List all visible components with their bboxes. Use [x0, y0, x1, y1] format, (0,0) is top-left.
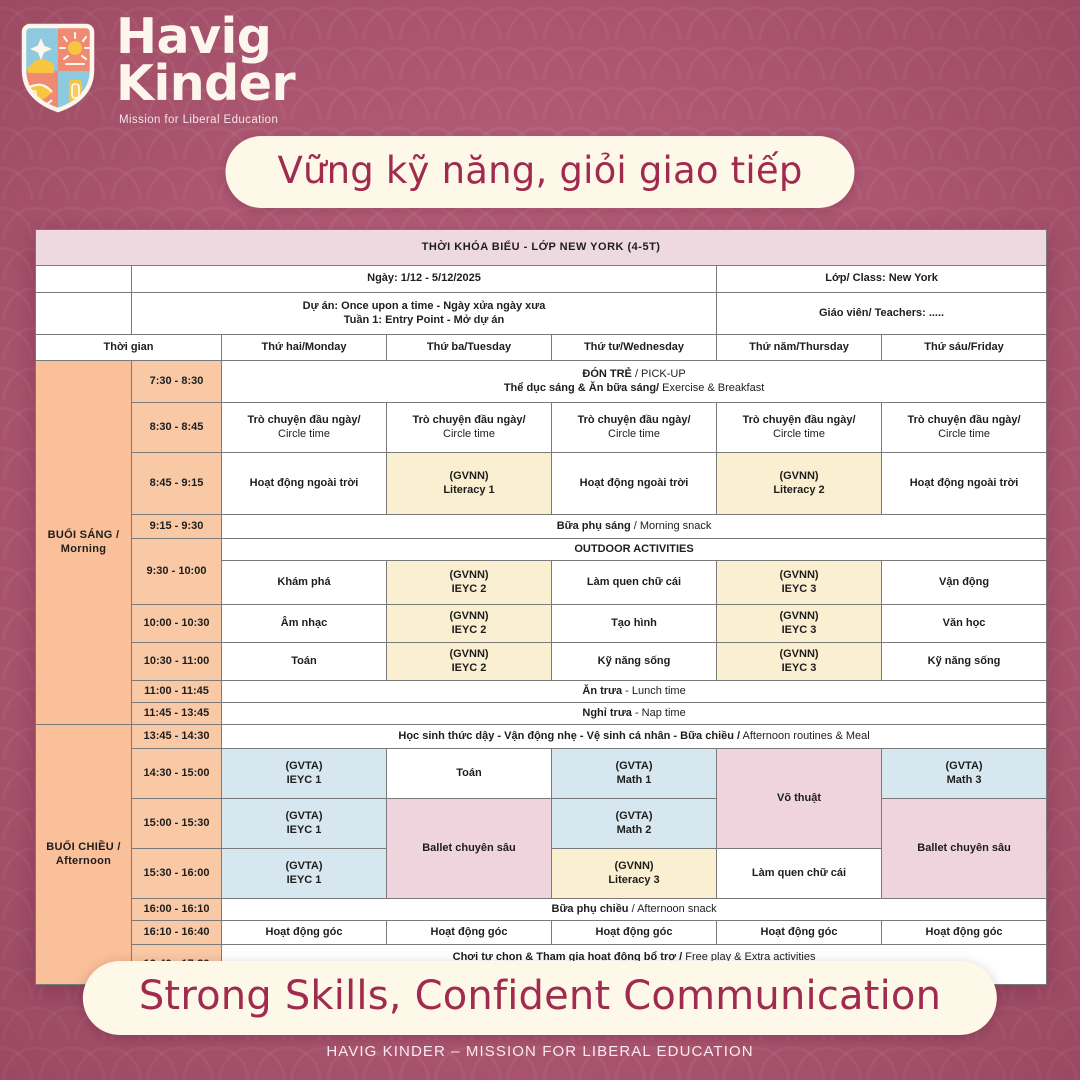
gvta-tag: (GVTA)	[555, 810, 713, 824]
cell-toan-mon: Toán	[222, 643, 387, 681]
table-row: 9:30 - 10:00 OUTDOOR ACTIVITIES	[36, 539, 1047, 561]
header-day-friday: Thứ sáu/Friday	[882, 335, 1047, 361]
pickup-reg: / PICK-UP	[632, 368, 686, 380]
math2-label: Math 2	[555, 824, 713, 838]
cell-amnhac-mon: Âm nhạc	[222, 605, 387, 643]
cell-ballet-fri: Ballet chuyên sâu	[882, 799, 1047, 899]
ieyc2-label: IEYC 2	[390, 662, 548, 676]
cell-vothuat-thu: Võ thuật	[717, 749, 882, 849]
gvta-tag: (GVTA)	[225, 810, 383, 824]
cell-vanhoc-fri: Văn học	[882, 605, 1047, 643]
cell-circle-wed: Trò chuyện đầu ngày/Circle time	[552, 403, 717, 453]
cell-hdgoc-mon: Hoạt động góc	[222, 921, 387, 945]
cell-circle-thu: Trò chuyện đầu ngày/Circle time	[717, 403, 882, 453]
table-row: 10:30 - 11:00 Toán (GVNN)IEYC 2 Kỹ năng …	[36, 643, 1047, 681]
gvnn-tag: (GVNN)	[720, 610, 878, 624]
cell-math2-wed: (GVTA)Math 2	[552, 799, 717, 849]
circle-bold: Trò chuyện đầu ngày/	[885, 414, 1043, 428]
table-row: BUỔI CHIỀU / Afternoon 13:45 - 14:30 Học…	[36, 725, 1047, 749]
cell-literacy3-wed: (GVNN)Literacy 3	[552, 849, 717, 899]
cell-ieyc2-tue: (GVNN)IEYC 2	[387, 561, 552, 605]
literacy2-label: Literacy 2	[720, 484, 878, 498]
header-day-tuesday: Thứ ba/Tuesday	[387, 335, 552, 361]
time-10-00: 10:00 - 10:30	[132, 605, 222, 643]
cell-circle-tue: Trò chuyện đầu ngày/Circle time	[387, 403, 552, 453]
slogan-bottom-text: Strong Skills, Confident Communication	[139, 973, 941, 1019]
cell-outdoor-wed: Hoạt động ngoài trời	[552, 453, 717, 515]
cell-ieyc3-thu: (GVNN)IEYC 3	[717, 561, 882, 605]
cell-ieyc2-tue-3: (GVNN)IEYC 2	[387, 643, 552, 681]
date-label: Ngày: 1/12 - 5/12/2025	[132, 266, 717, 293]
table-day-header-row: Thời gian Thứ hai/Monday Thứ ba/Tuesday …	[36, 335, 1047, 361]
time-8-45: 8:45 - 9:15	[132, 453, 222, 515]
cell-nap: Nghỉ trưa - Nap time	[222, 703, 1047, 725]
cell-math3-fri: (GVTA)Math 3	[882, 749, 1047, 799]
page-title: THỜI KHÓA BIỂU - LỚP NEW YORK (4-5T)	[36, 230, 1047, 266]
circle-bold: Trò chuyện đầu ngày/	[720, 414, 878, 428]
cell-kynangsong-fri: Kỹ năng sống	[882, 643, 1047, 681]
nap-bold: Nghỉ trưa	[582, 707, 632, 719]
header-day-wednesday: Thứ tư/Wednesday	[552, 335, 717, 361]
table-row: 11:45 - 13:45 Nghỉ trưa - Nap time	[36, 703, 1047, 725]
time-13-45: 13:45 - 14:30	[132, 725, 222, 749]
cell-ieyc3-thu-3: (GVNN)IEYC 3	[717, 643, 882, 681]
cell-hdgoc-wed: Hoạt động góc	[552, 921, 717, 945]
table-row: 10:00 - 10:30 Âm nhạc (GVNN)IEYC 2 Tạo h…	[36, 605, 1047, 643]
shield-logo-icon	[14, 22, 102, 118]
ieyc1-label: IEYC 1	[225, 824, 383, 838]
meta-spacer-1	[36, 266, 132, 293]
snack-afternoon-bold: Bữa phụ chiều	[552, 903, 629, 915]
table-row: 8:45 - 9:15 Hoạt động ngoài trời (GVNN)L…	[36, 453, 1047, 515]
table-row: 16:10 - 16:40 Hoạt động góc Hoạt động gó…	[36, 921, 1047, 945]
cell-circle-mon: Trò chuyện đầu ngày/Circle time	[222, 403, 387, 453]
cell-taohinh-wed: Tạo hình	[552, 605, 717, 643]
project-line2: Tuần 1: Entry Point - Mở dự án	[135, 314, 713, 328]
breakfast-bold: Thể dục sáng & Ăn bữa sáng/	[504, 382, 659, 394]
cell-math1-wed: (GVTA)Math 1	[552, 749, 717, 799]
slogan-top-banner: Vững kỹ năng, giỏi giao tiếp	[225, 136, 854, 208]
time-16-10: 16:10 - 16:40	[132, 921, 222, 945]
cell-ballet-tue: Ballet chuyên sâu	[387, 799, 552, 899]
table-title-row: THỜI KHÓA BIỂU - LỚP NEW YORK (4-5T)	[36, 230, 1047, 266]
cell-afternoon-routine: Học sinh thức dậy - Vận động nhẹ - Vệ si…	[222, 725, 1047, 749]
cell-hdgoc-tue: Hoạt động góc	[387, 921, 552, 945]
nap-reg: - Nap time	[632, 707, 686, 719]
pickup-bold: ĐÓN TRẺ	[582, 368, 632, 380]
schedule-table-container: THỜI KHÓA BIỂU - LỚP NEW YORK (4-5T) Ngà…	[35, 229, 1046, 985]
cell-vandong-fri: Vận động	[882, 561, 1047, 605]
table-row: 9:15 - 9:30 Bữa phụ sáng / Morning snack	[36, 515, 1047, 539]
afternoon-routine-bold: Học sinh thức dậy - Vận động nhẹ - Vệ si…	[398, 730, 740, 742]
brand-name-line2: Kinder	[116, 61, 295, 108]
gvnn-tag: (GVNN)	[390, 648, 548, 662]
circle-reg: Circle time	[390, 428, 548, 442]
cell-literacy2-thu: (GVNN)Literacy 2	[717, 453, 882, 515]
time-15-00: 15:00 - 15:30	[132, 799, 222, 849]
cell-afternoon-snack: Bữa phụ chiều / Afternoon snack	[222, 899, 1047, 921]
header-day-thursday: Thứ năm/Thursday	[717, 335, 882, 361]
time-9-15: 9:15 - 9:30	[132, 515, 222, 539]
session-afternoon-text: BUỔI CHIỀU / Afternoon	[46, 841, 121, 867]
ieyc3-label: IEYC 3	[720, 624, 878, 638]
literacy1-label: Literacy 1	[390, 484, 548, 498]
header-time: Thời gian	[36, 335, 222, 361]
snack-morning-reg: / Morning snack	[631, 520, 712, 532]
project-line1: Dự án: Once upon a time - Ngày xửa ngày …	[135, 300, 713, 314]
header-day-monday: Thứ hai/Monday	[222, 335, 387, 361]
literacy3-label: Literacy 3	[555, 874, 713, 888]
circle-reg: Circle time	[555, 428, 713, 442]
circle-reg: Circle time	[225, 428, 383, 442]
circle-bold: Trò chuyện đầu ngày/	[555, 414, 713, 428]
cell-ieyc1-mon-2: (GVTA)IEYC 1	[222, 799, 387, 849]
schedule-table: THỜI KHÓA BIỂU - LỚP NEW YORK (4-5T) Ngà…	[35, 229, 1047, 985]
cell-morning-snack: Bữa phụ sáng / Morning snack	[222, 515, 1047, 539]
cell-ieyc2-tue-2: (GVNN)IEYC 2	[387, 605, 552, 643]
cell-literacy1-tue: (GVNN)Literacy 1	[387, 453, 552, 515]
brand-name-line1: Havig	[116, 14, 295, 61]
time-10-30: 10:30 - 11:00	[132, 643, 222, 681]
ieyc2-label: IEYC 2	[390, 583, 548, 597]
gvnn-tag: (GVNN)	[555, 860, 713, 874]
table-row: 14:30 - 15:00 (GVTA)IEYC 1 Toán (GVTA)Ma…	[36, 749, 1047, 799]
slogan-top-text: Vững kỹ năng, giỏi giao tiếp	[277, 149, 802, 192]
cell-ieyc1-mon-3: (GVTA)IEYC 1	[222, 849, 387, 899]
cell-toan-tue: Toán	[387, 749, 552, 799]
snack-morning-bold: Bữa phụ sáng	[557, 520, 631, 532]
session-morning-text: BUỔI SÁNG / Morning	[48, 529, 120, 555]
cell-lamquen-wed: Làm quen chữ cái	[552, 561, 717, 605]
gvta-tag: (GVTA)	[225, 860, 383, 874]
gvta-tag: (GVTA)	[225, 760, 383, 774]
teacher-label: Giáo viên/ Teachers: .....	[717, 293, 1047, 335]
cell-hdgoc-fri: Hoạt động góc	[882, 921, 1047, 945]
ieyc3-label: IEYC 3	[720, 662, 878, 676]
cell-pickup-breakfast: ĐÓN TRẺ / PICK-UP Thể dục sáng & Ăn bữa …	[222, 361, 1047, 403]
gvnn-tag: (GVNN)	[390, 470, 548, 484]
circle-bold: Trò chuyện đầu ngày/	[390, 414, 548, 428]
math3-label: Math 3	[885, 774, 1043, 788]
gvta-tag: (GVTA)	[885, 760, 1043, 774]
afternoon-routine-reg: Afternoon routines & Meal	[740, 730, 870, 742]
cell-outdoor-activities-banner: OUTDOOR ACTIVITIES	[222, 539, 1047, 561]
gvnn-tag: (GVNN)	[390, 569, 548, 583]
ieyc3-label: IEYC 3	[720, 583, 878, 597]
gvnn-tag: (GVNN)	[720, 569, 878, 583]
cell-hdgoc-thu: Hoạt động góc	[717, 921, 882, 945]
circle-reg: Circle time	[720, 428, 878, 442]
time-11-45: 11:45 - 13:45	[132, 703, 222, 725]
lunch-bold: Ăn trưa	[582, 685, 622, 697]
ieyc1-label: IEYC 1	[225, 774, 383, 788]
table-meta-row-project: Dự án: Once upon a time - Ngày xửa ngày …	[36, 293, 1047, 335]
time-15-30: 15:30 - 16:00	[132, 849, 222, 899]
math1-label: Math 1	[555, 774, 713, 788]
time-9-30: 9:30 - 10:00	[132, 539, 222, 605]
cell-ieyc1-mon-1: (GVTA)IEYC 1	[222, 749, 387, 799]
time-11-00: 11:00 - 11:45	[132, 681, 222, 703]
gvnn-tag: (GVNN)	[390, 610, 548, 624]
table-row: 16:00 - 16:10 Bữa phụ chiều / Afternoon …	[36, 899, 1047, 921]
breakfast-reg: Exercise & Breakfast	[659, 382, 764, 394]
cell-circle-fri: Trò chuyện đầu ngày/Circle time	[882, 403, 1047, 453]
cell-khampha-mon: Khám phá	[222, 561, 387, 605]
footer-tagline: HAVIG KINDER – MISSION FOR LIBERAL EDUCA…	[0, 1043, 1080, 1060]
time-14-30: 14:30 - 15:00	[132, 749, 222, 799]
snack-afternoon-reg: / Afternoon snack	[629, 903, 717, 915]
session-label-morning: BUỔI SÁNG / Morning	[36, 361, 132, 725]
session-label-afternoon: BUỔI CHIỀU / Afternoon	[36, 725, 132, 985]
table-row: 15:00 - 15:30 (GVTA)IEYC 1 Ballet chuyên…	[36, 799, 1047, 849]
cell-outdoor-fri: Hoạt động ngoài trời	[882, 453, 1047, 515]
table-row: 8:30 - 8:45 Trò chuyện đầu ngày/Circle t…	[36, 403, 1047, 453]
ieyc1-label: IEYC 1	[225, 874, 383, 888]
circle-reg: Circle time	[885, 428, 1043, 442]
ieyc2-label: IEYC 2	[390, 624, 548, 638]
table-row: 11:00 - 11:45 Ăn trưa - Lunch time	[36, 681, 1047, 703]
cell-lunch: Ăn trưa - Lunch time	[222, 681, 1047, 703]
cell-kynangsong-wed: Kỹ năng sống	[552, 643, 717, 681]
brand-wordmark: Havig Kinder Mission for Liberal Educati…	[116, 14, 295, 126]
circle-bold: Trò chuyện đầu ngày/	[225, 414, 383, 428]
brand-header: Havig Kinder Mission for Liberal Educati…	[14, 14, 295, 126]
brand-tagline: Mission for Liberal Education	[119, 114, 295, 126]
meta-spacer-2	[36, 293, 132, 335]
cell-ieyc3-thu-2: (GVNN)IEYC 3	[717, 605, 882, 643]
slogan-bottom-banner: Strong Skills, Confident Communication	[83, 961, 997, 1035]
cell-lamquen-thu: Làm quen chữ cái	[717, 849, 882, 899]
time-8-30: 8:30 - 8:45	[132, 403, 222, 453]
project-info: Dự án: Once upon a time - Ngày xửa ngày …	[132, 293, 717, 335]
cell-outdoor-mon: Hoạt động ngoài trời	[222, 453, 387, 515]
time-7-30: 7:30 - 8:30	[132, 361, 222, 403]
class-label: Lớp/ Class: New York	[717, 266, 1047, 293]
gvta-tag: (GVTA)	[555, 760, 713, 774]
gvnn-tag: (GVNN)	[720, 648, 878, 662]
lunch-reg: - Lunch time	[622, 685, 686, 697]
table-meta-row-date: Ngày: 1/12 - 5/12/2025 Lớp/ Class: New Y…	[36, 266, 1047, 293]
gvnn-tag: (GVNN)	[720, 470, 878, 484]
table-row: BUỔI SÁNG / Morning 7:30 - 8:30 ĐÓN TRẺ …	[36, 361, 1047, 403]
time-16-00: 16:00 - 16:10	[132, 899, 222, 921]
